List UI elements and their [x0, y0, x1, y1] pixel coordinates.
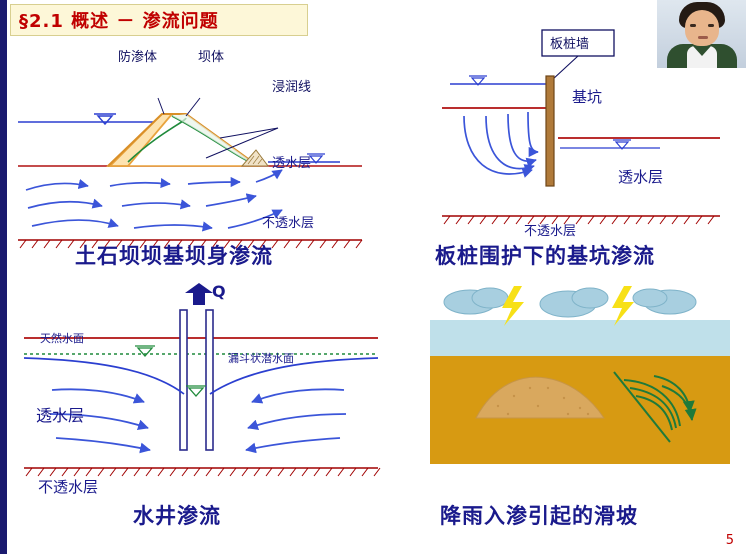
slide: §2.1 概述 － 渗流问题 [0, 0, 746, 554]
label-anti-seepage: 防渗体 [118, 46, 157, 65]
label-foundation-pit: 基坑 [572, 86, 602, 107]
sheet-pile-diagram [420, 20, 740, 250]
caption-water-well: 水井渗流 [133, 500, 221, 530]
panel-water-well: Q 天然水面 漏斗状潜水面 透水层 不透水层 [10, 272, 390, 502]
page-number: 5 [726, 533, 734, 548]
caption-earth-dam: 土石坝坝基坝身渗流 [75, 240, 273, 270]
label-impervious-layer: 不透水层 [262, 212, 314, 231]
label-impervious-layer-3: 不透水层 [38, 476, 98, 497]
landslide-diagram [418, 276, 738, 476]
label-pervious-layer-3: 透水层 [36, 402, 84, 426]
panel-earth-dam: 防渗体 坝体 浸润线 透水层 不透水层 [10, 40, 370, 270]
label-dam-body: 坝体 [198, 46, 224, 65]
earth-dam-diagram [10, 40, 370, 270]
water-well-diagram [10, 272, 390, 502]
caption-sheet-pile: 板桩围护下的基坑渗流 [435, 240, 655, 270]
label-sheet-pile-wall: 板桩墙 [550, 33, 589, 52]
page-title: §2.1 概述 － 渗流问题 [19, 7, 219, 33]
slide-title-box: §2.1 概述 － 渗流问题 [10, 4, 308, 36]
label-phreatic-line: 浸润线 [272, 76, 311, 95]
panel-sheet-pile: 板桩墙 基坑 透水层 不透水层 [420, 20, 740, 250]
caption-rainfall-landslide: 降雨入渗引起的滑坡 [440, 500, 638, 530]
left-accent-bar [0, 0, 7, 554]
label-natural-water-surface: 天然水面 [40, 330, 84, 346]
panel-rainfall-landslide [418, 276, 738, 476]
label-impervious-layer-2: 不透水层 [524, 220, 576, 239]
label-pervious-layer: 透水层 [272, 152, 311, 171]
label-discharge-q: Q [212, 282, 226, 301]
label-funnel-water-table: 漏斗状潜水面 [228, 350, 294, 366]
label-pervious-layer-2: 透水层 [618, 166, 663, 187]
